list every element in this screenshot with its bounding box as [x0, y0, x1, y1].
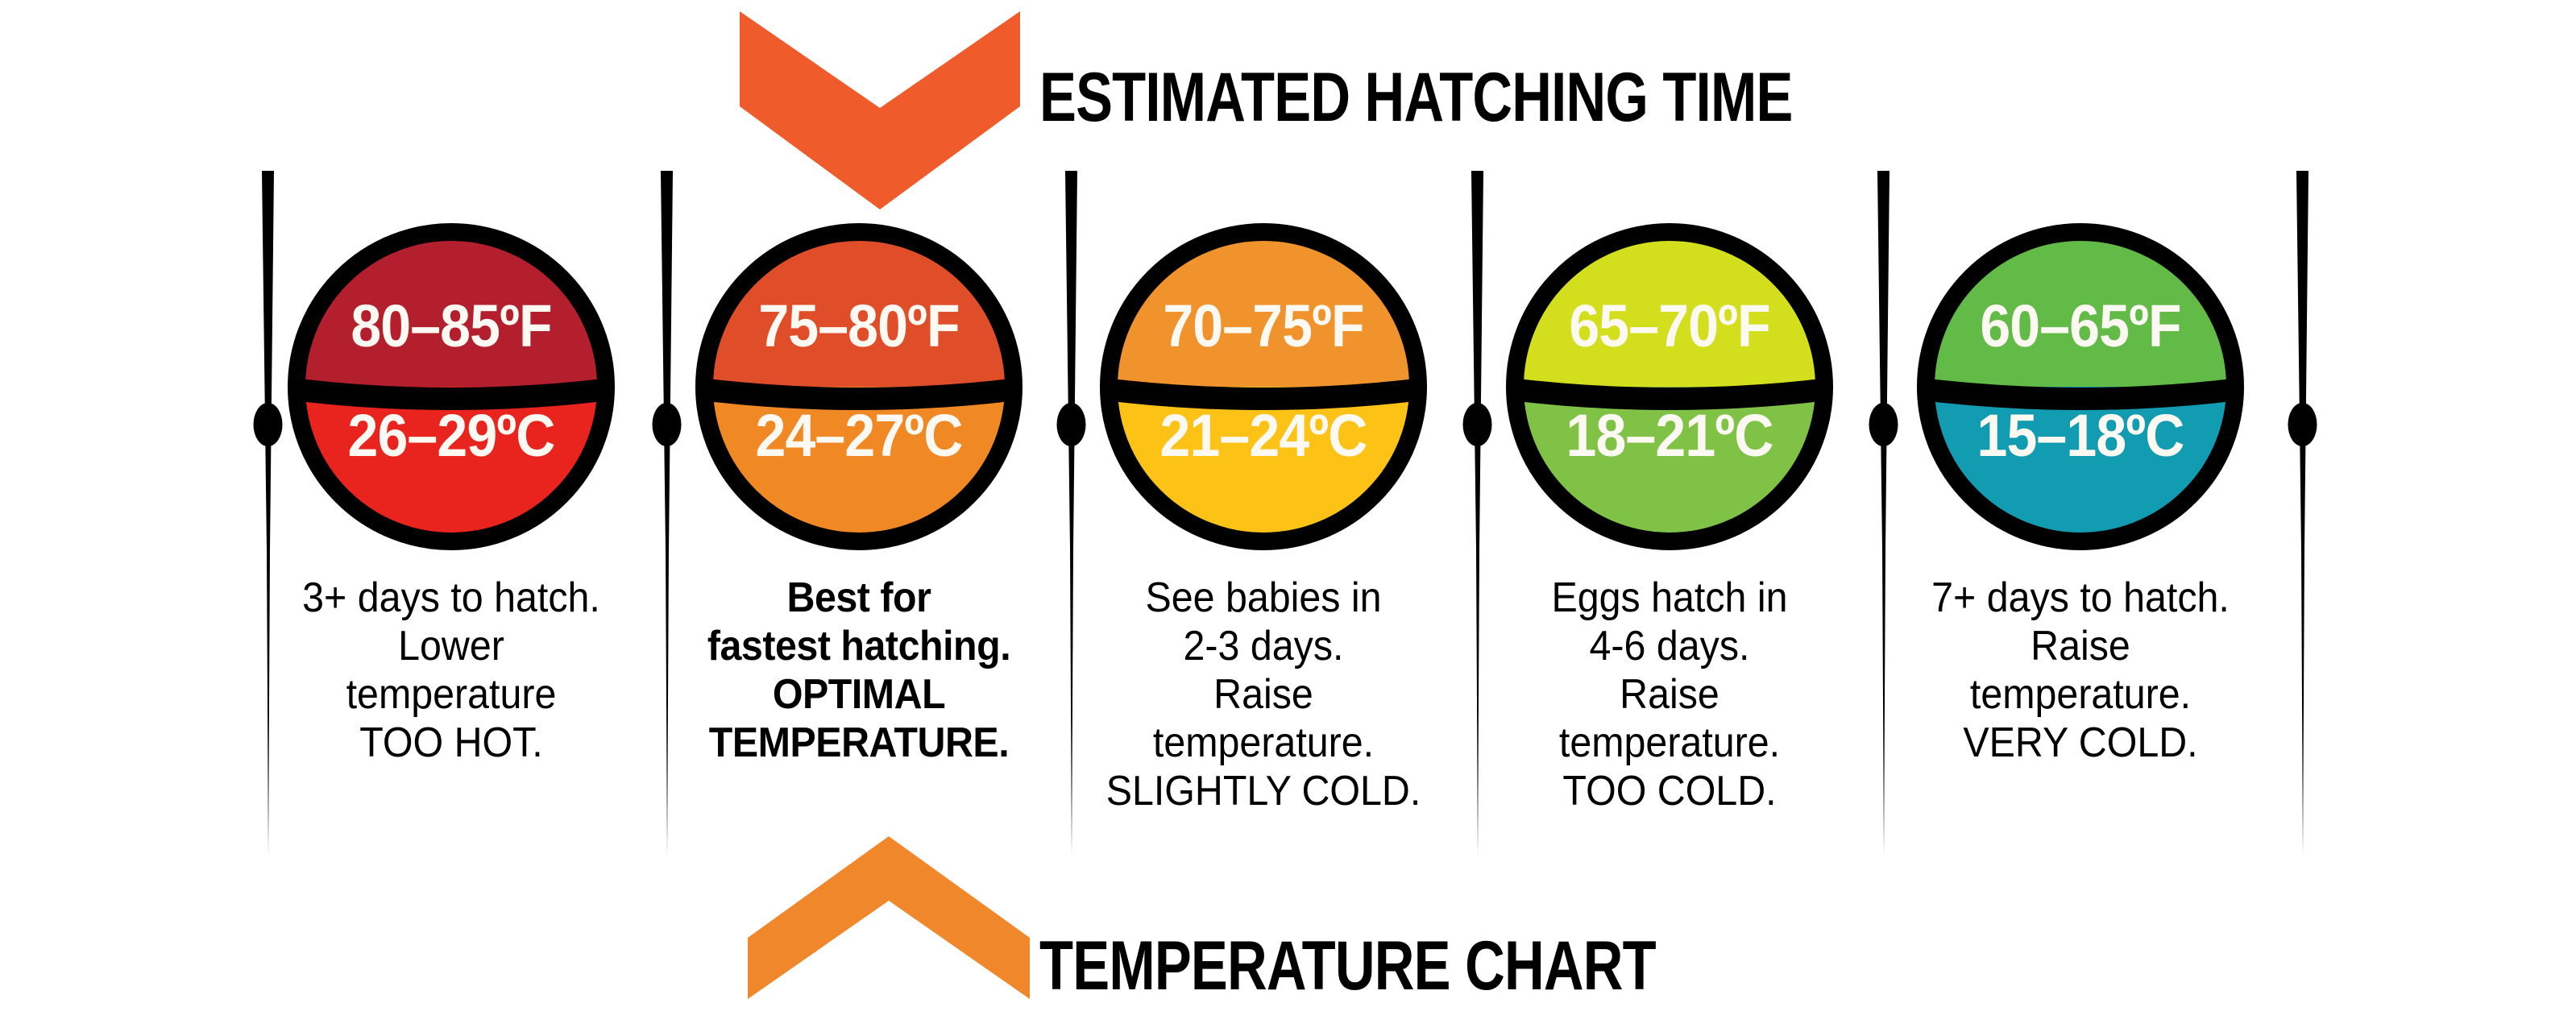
dial-label-celsius: 21–24ºC: [1108, 406, 1419, 466]
dial-label-fahrenheit: 65–70ºF: [1514, 296, 1825, 356]
dial-4: 65–70ºF 18–21ºC: [1500, 218, 1839, 556]
thermometer-needle-icon-5: [1865, 171, 1901, 856]
band-caption-3: See babies in 2-3 days. Raise temperatur…: [1106, 574, 1421, 815]
band-caption-2: Best for fastest hatching. OPTIMAL TEMPE…: [702, 574, 1017, 767]
temperature-band-2: 75–80ºF 24–27ºC Best for fastest hatchin…: [690, 218, 1028, 767]
band-caption-4: Eggs hatch in 4-6 days. Raise temperatur…: [1512, 574, 1827, 815]
temperature-band-1: 80–85ºF 26–29ºC 3+ days to hatch. Lower …: [282, 218, 620, 767]
dial-label-celsius: 15–18ºC: [1925, 406, 2236, 466]
dial-label-celsius: 18–21ºC: [1514, 406, 1825, 466]
dial-label-fahrenheit: 80–85ºF: [296, 296, 607, 356]
thermometer-needle-icon-4: [1459, 171, 1495, 856]
dial-graphic-1: [282, 218, 620, 556]
temperature-band-5: 60–65ºF 15–18ºC 7+ days to hatch. Raise …: [1911, 218, 2250, 767]
dial-label-fahrenheit: 70–75ºF: [1108, 296, 1419, 356]
chevron-down-icon: [740, 6, 1020, 209]
thermometer-needle-icon-6: [2284, 171, 2320, 856]
dial-3: 70–75ºF 21–24ºC: [1094, 218, 1433, 556]
thermometer-needle-icon-3: [1053, 171, 1089, 856]
temperature-chart-infographic: ESTIMATED HATCHING TIME TEMPERATURE CHAR…: [0, 0, 2576, 1028]
dial-graphic-3: [1094, 218, 1433, 556]
dial-label-fahrenheit: 60–65ºF: [1925, 296, 2236, 356]
temperature-band-4: 65–70ºF 18–21ºC Eggs hatch in 4-6 days. …: [1500, 218, 1839, 815]
page-title-top: ESTIMATED HATCHING TIME: [1039, 63, 1793, 132]
thermometer-needle-icon-1: [250, 171, 285, 856]
dial-label-celsius: 24–27ºC: [703, 406, 1014, 466]
band-caption-5: 7+ days to hatch. Raise temperature. VER…: [1923, 574, 2238, 767]
thermometer-needle-icon-2: [649, 171, 684, 856]
dial-1: 80–85ºF 26–29ºC: [282, 218, 620, 556]
dial-label-celsius: 26–29ºC: [296, 406, 607, 466]
dial-2: 75–80ºF 24–27ºC: [690, 218, 1028, 556]
dial-graphic-2: [690, 218, 1028, 556]
dial-graphic-5: [1911, 218, 2250, 556]
chevron-up-icon: [748, 836, 1030, 999]
dial-5: 60–65ºF 15–18ºC: [1911, 218, 2250, 556]
dial-label-fahrenheit: 75–80ºF: [703, 296, 1014, 356]
temperature-band-3: 70–75ºF 21–24ºC See babies in 2-3 days. …: [1094, 218, 1433, 815]
dial-graphic-4: [1500, 218, 1839, 556]
page-title-bottom: TEMPERATURE CHART: [1039, 931, 1656, 1001]
band-caption-1: 3+ days to hatch. Lower temperature TOO …: [294, 574, 609, 767]
